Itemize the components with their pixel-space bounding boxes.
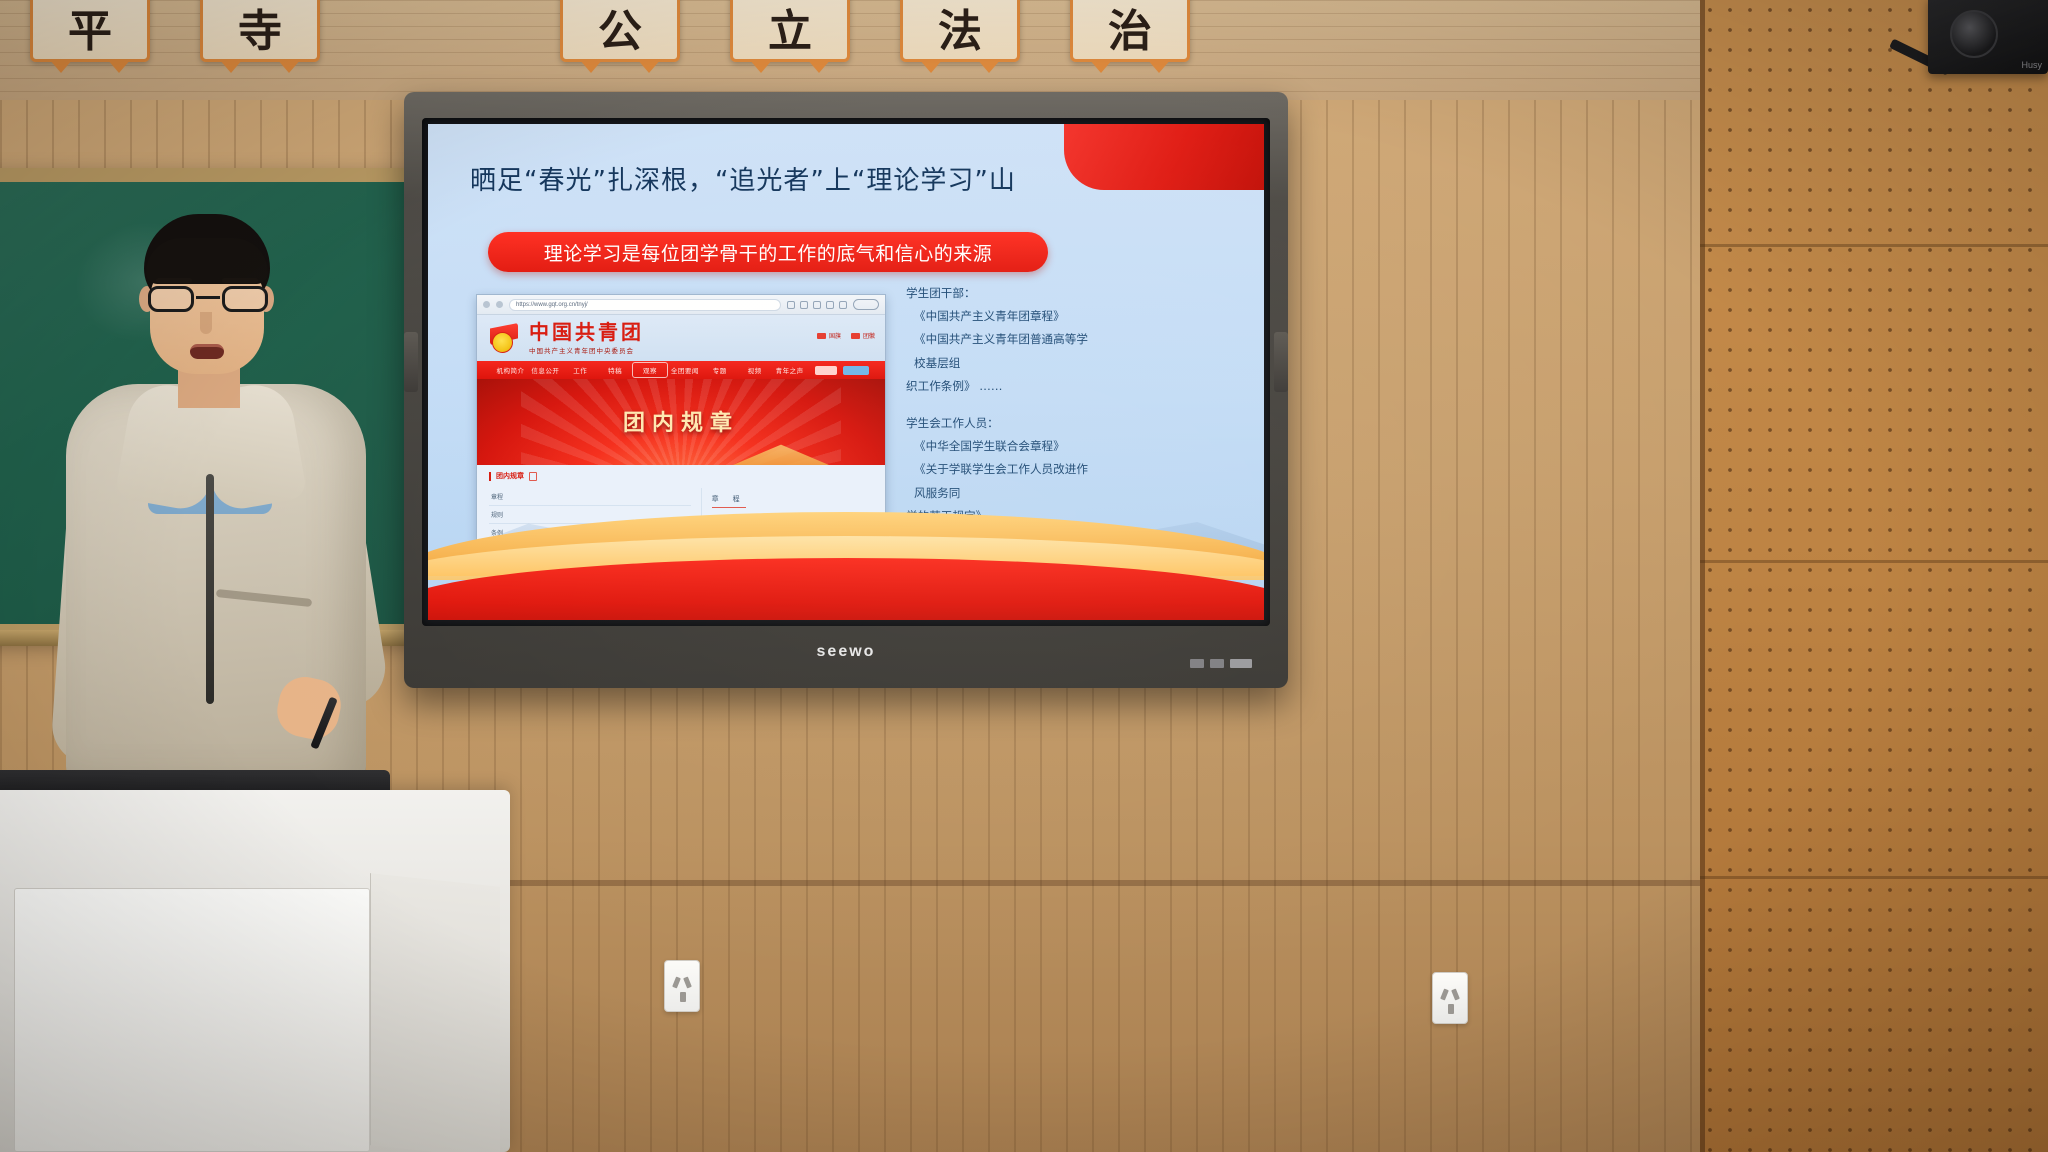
nav-item-7: 视频 bbox=[737, 365, 772, 375]
text-block-1-line-1: 《关于学联学生会工作人员改进作风服务同 bbox=[906, 458, 1096, 504]
text-block-1-heading: 学生会工作人员： bbox=[906, 412, 1096, 435]
panel-perforations bbox=[1700, 0, 2048, 1152]
site-hero-banner: 团内规章 bbox=[477, 379, 885, 465]
presenter-eyebrow-left bbox=[156, 278, 192, 283]
presentation-slide: 晒足“春光”扎深根，“追光者”上“理论学习”山 理论学习是每位团学骨干的工作的底… bbox=[428, 124, 1264, 620]
nav-item-4: 观察 bbox=[633, 363, 668, 377]
text-block-0-line-1: 《中国共产主义青年团普通高等学校基层组 bbox=[906, 328, 1096, 374]
text-block-0-line-0: 《中国共产主义青年团章程》 bbox=[906, 305, 1096, 328]
reload-icon bbox=[496, 301, 503, 308]
presenter-mouth bbox=[190, 344, 224, 359]
nav-badges bbox=[815, 366, 869, 375]
wall-plaque-3: 公 bbox=[560, 0, 680, 62]
site-title: 中国共青团 bbox=[529, 322, 644, 342]
socket-slot-c bbox=[680, 992, 686, 1002]
nav-item-8: 青年之声 bbox=[772, 365, 807, 375]
slide-title: 晒足“春光”扎深根，“追光者”上“理论学习”山 bbox=[470, 160, 1016, 197]
nav-item-3: 特稿 bbox=[598, 365, 633, 375]
star-icon bbox=[787, 301, 795, 309]
cyl-emblem-icon bbox=[487, 321, 521, 355]
collections-icon bbox=[813, 301, 821, 309]
presenter bbox=[20, 208, 400, 828]
wall-plaque-1: 平 bbox=[30, 0, 150, 62]
wall-socket-right bbox=[1432, 972, 1468, 1024]
section-title: 团内规章 bbox=[496, 471, 524, 481]
socket-slot-a bbox=[672, 976, 681, 988]
board-chin: seewo bbox=[422, 630, 1270, 674]
header-link-1: 国旗 bbox=[817, 331, 841, 340]
header-link-1-label: 国旗 bbox=[829, 331, 841, 340]
glasses-lens-right bbox=[222, 286, 268, 312]
hdmi-port-icon bbox=[1210, 659, 1224, 668]
document-icon bbox=[529, 472, 537, 481]
presenter-nose bbox=[200, 312, 212, 334]
text-block-0-line-2: 织工作条例》 …… bbox=[906, 375, 1096, 398]
share-icon bbox=[839, 301, 847, 309]
board-left-nub bbox=[404, 332, 418, 392]
board-right-nub bbox=[1274, 332, 1288, 392]
socket-slot-c2 bbox=[1448, 1004, 1454, 1014]
back-icon bbox=[483, 301, 490, 308]
text-block-0: 学生团干部： 《中国共产主义青年团章程》 《中国共产主义青年团普通高等学校基层组… bbox=[906, 282, 1096, 398]
nav-item-5: 全团要闻 bbox=[667, 365, 702, 375]
header-link-2: 团徽 bbox=[851, 331, 875, 340]
acoustic-panel bbox=[1700, 0, 2048, 1152]
nav-item-2: 工作 bbox=[563, 365, 598, 375]
site-header-links: 国旗 团徽 bbox=[817, 331, 875, 340]
toolbar-icons bbox=[787, 301, 847, 309]
emblem-icon bbox=[851, 333, 860, 339]
classroom-scene: 平 寺 公 立 法 治 Husy 晒足“春光”扎深根，“追光者”上“理论 bbox=[0, 0, 2048, 1152]
nav-item-6: 专题 bbox=[702, 365, 737, 375]
form-row-0-label: 章程 bbox=[491, 492, 503, 501]
slide-banner: 理论学习是每位团学骨干的工作的底气和信心的来源 bbox=[488, 232, 1048, 272]
socket-slot-b2 bbox=[1451, 988, 1460, 1000]
site-header: 中国共青团 中国共产主义青年团中央委员会 国旗 团徽 bbox=[477, 315, 885, 361]
split-icon bbox=[826, 301, 834, 309]
socket-slot-b bbox=[683, 976, 692, 988]
wall-plaque-6: 治 bbox=[1070, 0, 1190, 62]
nav-item-0: 机构简介 bbox=[493, 365, 528, 375]
slide-bottom-decoration bbox=[428, 502, 1264, 620]
panel-seam-h1 bbox=[1700, 244, 2048, 247]
text-block-0-heading: 学生团干部： bbox=[906, 282, 1096, 305]
board-ports bbox=[1190, 659, 1252, 668]
board-screen[interactable]: 晒足“春光”扎深根，“追光者”上“理论学习”山 理论学习是每位团学骨干的工作的底… bbox=[428, 124, 1264, 620]
site-subtitle: 中国共产主义青年团中央委员会 bbox=[529, 345, 644, 355]
wall-socket-left bbox=[664, 960, 700, 1012]
panel-seam-h3 bbox=[1700, 876, 2048, 879]
nav-badge-pink-icon bbox=[815, 366, 837, 375]
text-block-1-line-0: 《中华全国学生联合会章程》 bbox=[906, 435, 1096, 458]
emblem-sun bbox=[492, 332, 513, 353]
nav-item-1: 信息公开 bbox=[528, 365, 563, 375]
board-brand-label: seewo bbox=[817, 643, 876, 661]
browser-toolbar: https://www.gqt.org.cn/tnyj/ bbox=[477, 295, 885, 315]
site-name: 中国共青团 中国共产主义青年团中央委员会 bbox=[529, 322, 644, 355]
usb-port-icon bbox=[1190, 659, 1204, 668]
speaker-cone bbox=[1950, 10, 1998, 58]
hero-title: 团内规章 bbox=[477, 405, 885, 437]
section-accent-bar bbox=[489, 472, 491, 481]
section-title-row: 团内规章 bbox=[489, 471, 873, 481]
glasses-lens-left bbox=[148, 286, 194, 312]
smart-board[interactable]: 晒足“春光”扎深根，“追光者”上“理论学习”山 理论学习是每位团学骨干的工作的底… bbox=[404, 92, 1288, 688]
header-link-2-label: 团徽 bbox=[863, 331, 875, 340]
site-navigation: 机构简介 信息公开 工作 特稿 观察 全团要闻 专题 视频 青年之声 bbox=[477, 361, 885, 379]
extensions-icon bbox=[800, 301, 808, 309]
wall-plaque-4: 立 bbox=[730, 0, 850, 62]
socket-slot-a2 bbox=[1440, 988, 1449, 1000]
board-bezel: 晒足“春光”扎深根，“追光者”上“理论学习”山 理论学习是每位团学骨干的工作的底… bbox=[422, 118, 1270, 626]
flag-icon bbox=[817, 333, 826, 339]
panel-seam-h2 bbox=[1700, 560, 2048, 563]
wall-speaker: Husy bbox=[1928, 0, 2048, 74]
podium-front-panel bbox=[14, 888, 370, 1152]
power-indicator-icon bbox=[1230, 659, 1252, 668]
podium-side-panel bbox=[370, 873, 500, 1152]
wall-plaque-5: 法 bbox=[900, 0, 1020, 62]
presenter-eyebrow-right bbox=[222, 278, 258, 283]
presenter-glasses bbox=[146, 286, 270, 312]
url-bar: https://www.gqt.org.cn/tnyj/ bbox=[509, 299, 781, 311]
glasses-bridge bbox=[196, 296, 220, 299]
slide-corner-accent bbox=[1064, 124, 1264, 190]
speaker-brand-label: Husy bbox=[2021, 60, 2042, 70]
profile-icon bbox=[853, 299, 879, 310]
nav-badge-blue-icon bbox=[843, 366, 869, 375]
wall-plaque-2: 寺 bbox=[200, 0, 320, 62]
presenter-jacket-zip bbox=[206, 474, 214, 704]
